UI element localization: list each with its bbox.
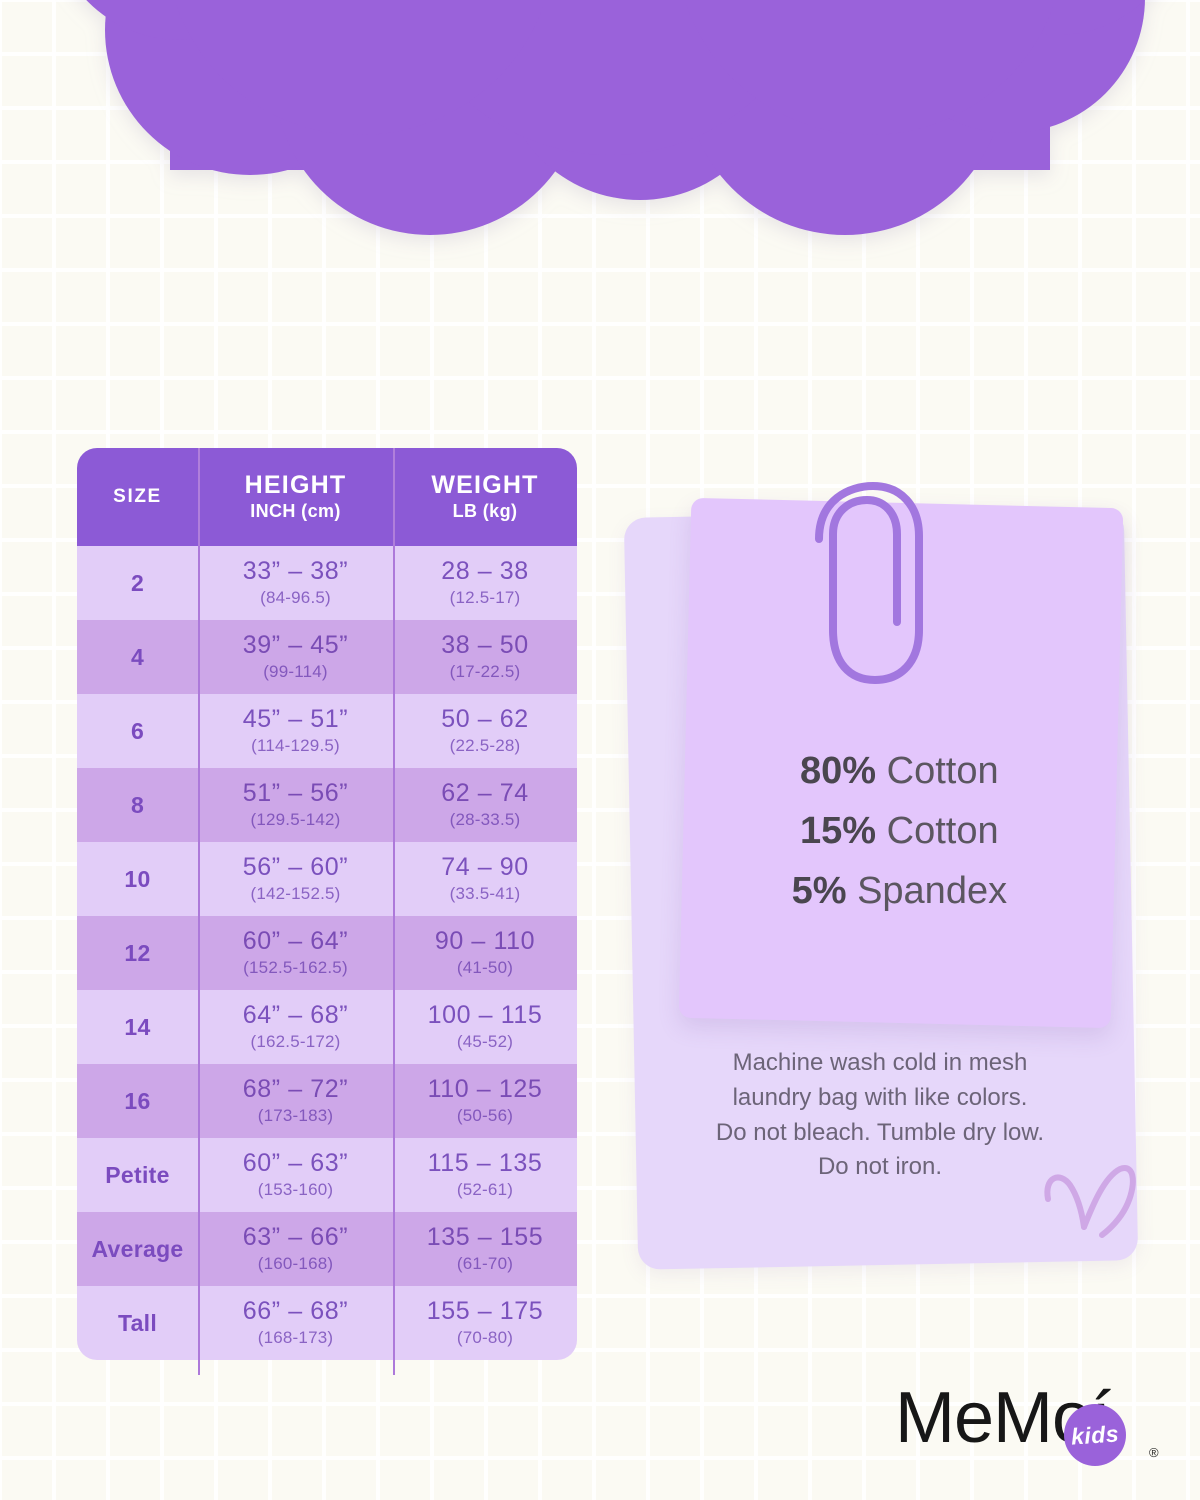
cell-weight-kg: (28-33.5) xyxy=(450,810,521,830)
column-header-height: HEIGHT INCH (cm) xyxy=(198,448,393,546)
cell-height-inch: 56” – 60” xyxy=(243,854,348,880)
cell-size: 10 xyxy=(77,842,198,916)
cell-size-value: 4 xyxy=(131,644,144,671)
cell-height-cm: (168-173) xyxy=(258,1328,334,1348)
cell-height-cm: (99-114) xyxy=(263,662,328,682)
size-chart-page: Find your suitable size SIZE HEIGHT INCH… xyxy=(0,0,1200,1500)
table-row: Petite60” – 63”(153-160)115 – 135(52-61) xyxy=(77,1138,577,1212)
cell-weight-lb: 135 – 155 xyxy=(427,1224,544,1250)
cell-height: 45” – 51”(114-129.5) xyxy=(198,694,393,768)
table-row: Tall66” – 68”(168-173)155 – 175(70-80) xyxy=(77,1286,577,1360)
cell-weight: 38 – 50(17-22.5) xyxy=(393,620,577,694)
column-divider-1 xyxy=(198,448,200,546)
cell-size: 14 xyxy=(77,990,198,1064)
cell-height-inch: 39” – 45” xyxy=(243,632,348,658)
registered-mark: ® xyxy=(1149,1445,1159,1460)
composition-percent: 5% xyxy=(792,870,847,912)
cell-size-value: 8 xyxy=(131,792,144,819)
cell-weight: 74 – 90(33.5-41) xyxy=(393,842,577,916)
cell-weight-kg: (17-22.5) xyxy=(450,662,521,682)
cell-size: Tall xyxy=(77,1286,198,1360)
cell-weight-lb: 115 – 135 xyxy=(428,1150,543,1176)
cell-height-inch: 51” – 56” xyxy=(243,780,348,806)
cell-height-cm: (153-160) xyxy=(258,1180,334,1200)
cell-size-value: Tall xyxy=(118,1310,157,1337)
column-header-weight: WEIGHT LB (kg) xyxy=(393,448,577,546)
cell-size: Petite xyxy=(77,1138,198,1212)
composition-list: 80% Cotton 15% Cotton 5% Spandex xyxy=(683,741,1115,921)
cell-height: 60” – 63”(153-160) xyxy=(198,1138,393,1212)
cell-weight: 90 – 110(41-50) xyxy=(393,916,577,990)
cell-weight-kg: (45-52) xyxy=(457,1032,513,1052)
cell-size: 16 xyxy=(77,1064,198,1138)
paperclip-icon xyxy=(805,482,935,697)
cell-height-inch: 63” – 66” xyxy=(243,1224,348,1250)
cell-weight: 135 – 155(61-70) xyxy=(393,1212,577,1286)
cell-size-value: 6 xyxy=(131,718,144,745)
cell-height-inch: 66” – 68” xyxy=(243,1298,348,1324)
table-row: 439” – 45”(99-114)38 – 50(17-22.5) xyxy=(77,620,577,694)
cell-height: 51” – 56”(129.5-142) xyxy=(198,768,393,842)
cell-height-cm: (173-183) xyxy=(258,1106,334,1126)
cell-weight-lb: 100 – 115 xyxy=(428,1002,543,1028)
cell-height-inch: 60” – 64” xyxy=(243,928,348,954)
cell-size: 12 xyxy=(77,916,198,990)
table-row: 851” – 56”(129.5-142)62 – 74(28-33.5) xyxy=(77,768,577,842)
cell-weight-kg: (52-61) xyxy=(457,1180,513,1200)
table-row: 233” – 38”(84-96.5)28 – 38(12.5-17) xyxy=(77,546,577,620)
cell-height-inch: 68” – 72” xyxy=(243,1076,348,1102)
cell-height-cm: (142-152.5) xyxy=(250,884,340,904)
table-row: 1464” – 68”(162.5-172)100 – 115(45-52) xyxy=(77,990,577,1064)
cell-height-cm: (84-96.5) xyxy=(260,588,331,608)
column-header-height-unit: INCH (cm) xyxy=(250,501,341,522)
cell-height-inch: 45” – 51” xyxy=(243,706,348,732)
kids-badge-label: kids xyxy=(1070,1420,1120,1450)
cell-weight-lb: 155 – 175 xyxy=(427,1298,544,1324)
cell-weight-kg: (12.5-17) xyxy=(450,588,521,608)
cloud-shape xyxy=(50,0,1183,235)
cell-height: 56” – 60”(142-152.5) xyxy=(198,842,393,916)
cell-weight: 100 – 115(45-52) xyxy=(393,990,577,1064)
cell-height-inch: 64” – 68” xyxy=(243,1002,348,1028)
cell-size-value: 12 xyxy=(124,940,150,967)
cell-weight-kg: (22.5-28) xyxy=(450,736,521,756)
composition-line: 5% Spandex xyxy=(683,861,1115,921)
cell-weight: 62 – 74(28-33.5) xyxy=(393,768,577,842)
cell-size: 8 xyxy=(77,768,198,842)
cell-weight: 28 – 38(12.5-17) xyxy=(393,546,577,620)
cloud-banner: Find your suitable size xyxy=(0,0,1200,420)
cell-weight-kg: (70-80) xyxy=(457,1328,513,1348)
cell-weight-lb: 62 – 74 xyxy=(441,780,529,806)
table-row: 1260” – 64”(152.5-162.5)90 – 110(41-50) xyxy=(77,916,577,990)
column-header-size-label: SIZE xyxy=(113,487,162,508)
composition-percent: 15% xyxy=(800,810,876,852)
column-header-size: SIZE xyxy=(77,448,198,546)
cell-weight-lb: 38 – 50 xyxy=(441,632,529,658)
column-divider-2 xyxy=(393,448,395,546)
cell-weight-lb: 50 – 62 xyxy=(441,706,529,732)
cell-size: Average xyxy=(77,1212,198,1286)
column-header-weight-label: WEIGHT xyxy=(431,472,538,500)
table-row: Average63” – 66”(160-168)135 – 155(61-70… xyxy=(77,1212,577,1286)
cell-size: 6 xyxy=(77,694,198,768)
cell-weight-lb: 110 – 125 xyxy=(428,1076,543,1102)
cell-height-cm: (114-129.5) xyxy=(251,736,340,756)
cell-height: 64” – 68”(162.5-172) xyxy=(198,990,393,1064)
heart-doodle-icon xyxy=(1040,1155,1150,1265)
composition-percent: 80% xyxy=(800,750,876,792)
cell-height: 66” – 68”(168-173) xyxy=(198,1286,393,1360)
cell-height-cm: (160-168) xyxy=(258,1254,334,1274)
cell-height: 63” – 66”(160-168) xyxy=(198,1212,393,1286)
cell-weight-kg: (61-70) xyxy=(457,1254,513,1274)
cell-weight-kg: (41-50) xyxy=(457,958,513,978)
cell-size-value: Petite xyxy=(105,1162,169,1189)
table-header-row: SIZE HEIGHT INCH (cm) WEIGHT LB (kg) xyxy=(77,448,577,546)
cell-height-inch: 60” – 63” xyxy=(243,1150,348,1176)
cell-weight-kg: (33.5-41) xyxy=(450,884,521,904)
cell-height: 33” – 38”(84-96.5) xyxy=(198,546,393,620)
cell-height-cm: (152.5-162.5) xyxy=(243,958,348,978)
cell-weight: 50 – 62(22.5-28) xyxy=(393,694,577,768)
cell-height: 60” – 64”(152.5-162.5) xyxy=(198,916,393,990)
composition-material: Cotton xyxy=(887,750,999,792)
cell-height-cm: (129.5-142) xyxy=(250,810,340,830)
composition-material: Cotton xyxy=(887,810,999,852)
cell-weight-kg: (50-56) xyxy=(457,1106,513,1126)
cell-size-value: 14 xyxy=(124,1014,150,1041)
cell-height: 68” – 72”(173-183) xyxy=(198,1064,393,1138)
cell-height-inch: 33” – 38” xyxy=(243,558,348,584)
table-row: 1668” – 72”(173-183)110 – 125(50-56) xyxy=(77,1064,577,1138)
kids-badge: kids xyxy=(1064,1404,1126,1466)
composition-material: Spandex xyxy=(857,870,1007,912)
cell-weight-lb: 90 – 110 xyxy=(435,928,535,954)
size-table: SIZE HEIGHT INCH (cm) WEIGHT LB (kg) 233… xyxy=(77,448,577,1360)
cell-size-value: 2 xyxy=(131,570,144,597)
cell-size-value: 10 xyxy=(124,866,150,893)
table-row: 645” – 51”(114-129.5)50 – 62(22.5-28) xyxy=(77,694,577,768)
cell-size-value: 16 xyxy=(124,1088,150,1115)
cell-size-value: Average xyxy=(91,1236,183,1263)
table-body: 233” – 38”(84-96.5)28 – 38(12.5-17)439” … xyxy=(77,546,577,1360)
cell-weight-lb: 28 – 38 xyxy=(441,558,529,584)
cell-weight: 110 – 125(50-56) xyxy=(393,1064,577,1138)
table-row: 1056” – 60”(142-152.5)74 – 90(33.5-41) xyxy=(77,842,577,916)
cell-height: 39” – 45”(99-114) xyxy=(198,620,393,694)
cell-weight: 155 – 175(70-80) xyxy=(393,1286,577,1360)
composition-line: 80% Cotton xyxy=(683,741,1115,801)
composition-line: 15% Cotton xyxy=(683,801,1115,861)
cell-size: 4 xyxy=(77,620,198,694)
cell-height-cm: (162.5-172) xyxy=(250,1032,340,1052)
column-header-weight-unit: LB (kg) xyxy=(453,501,518,522)
cell-weight-lb: 74 – 90 xyxy=(441,854,529,880)
cell-size: 2 xyxy=(77,546,198,620)
column-header-height-label: HEIGHT xyxy=(245,472,347,500)
brand-logo: MeMoí kids ® xyxy=(895,1382,1165,1487)
cell-weight: 115 – 135(52-61) xyxy=(393,1138,577,1212)
